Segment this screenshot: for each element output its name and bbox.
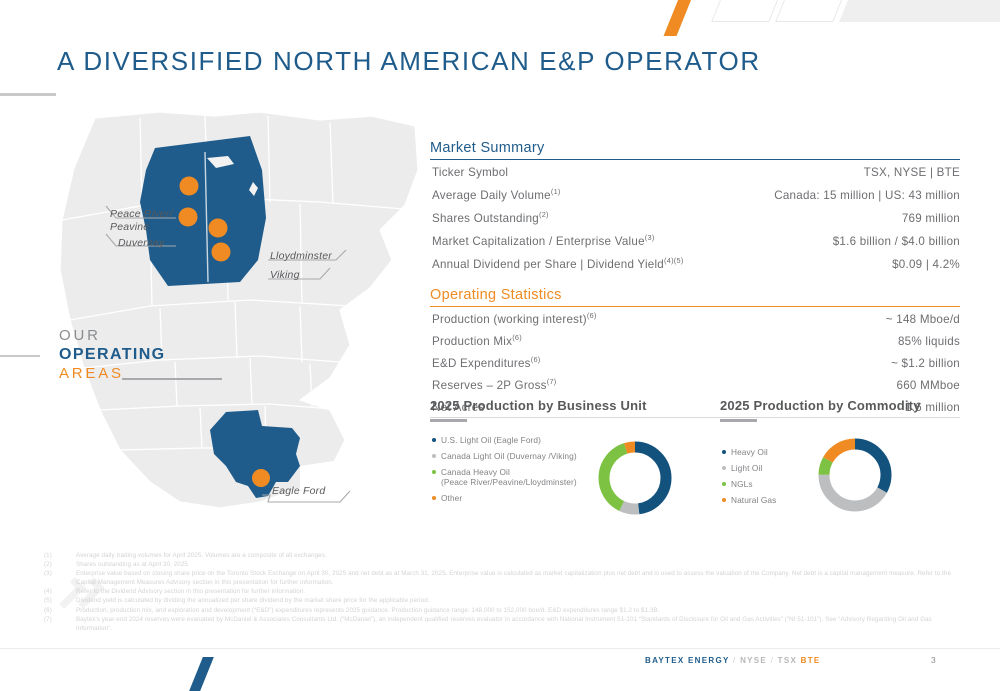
operating-areas-map: Peace River/ Peavine Duvernay Lloydminst… [0,110,420,540]
map-dot-peace-river [180,177,199,196]
map-label-eagle-ford: Eagle Ford [272,485,325,497]
top-decoration [660,0,1000,36]
chart-title: 2025 Production by Business Unit [430,398,720,413]
row-label: Ticker Symbol [432,164,508,179]
map-dot-eagle-ford [252,469,270,487]
footnote-number: (2) [44,560,76,569]
row-value: ~ $1.2 billion [891,357,960,370]
footnote-text: Dividend yield is calculated by dividing… [76,596,954,605]
footnote-number: (1) [44,551,76,560]
row-value: ~ 148 Mboe/d [886,313,960,326]
row-footnote-ref: (2) [539,210,549,219]
row-label: E&D Expenditures(6) [432,355,541,370]
legend-item: Natural Gas [722,495,776,505]
table-row: Production (working interest)(6) ~ 148 M… [430,307,960,329]
row-label: Market Capitalization / Enterprise Value… [432,233,655,248]
legend-item: U.S. Light Oil (Eagle Ford) [432,435,577,445]
legend-swatch [432,470,436,474]
footnote-number: (7) [44,615,76,633]
row-value: 660 MMboe [897,379,960,392]
operating-areas-line3: AREAS [59,364,166,383]
footnote-text: Production, production mix, and explorat… [76,606,954,615]
row-label: Production (working interest)(6) [432,311,597,326]
legend-label: Other [441,493,462,503]
legend-item: Canada Heavy Oil (Peace River/Peavine/Ll… [432,467,577,487]
summary-panel: Market Summary Ticker Symbol TSX, NYSE |… [430,140,960,418]
chart-production-by-business-unit: 2025 Production by Business Unit U.S. Li… [430,398,720,535]
chart-title: 2025 Production by Commodity [720,398,960,413]
row-value: $0.09 | 4.2% [892,258,960,271]
market-summary-heading: Market Summary [430,140,960,160]
operating-areas-line1: OUR [59,326,166,345]
legend-item: Heavy Oil [722,447,776,457]
blue-slash-icon [189,657,214,691]
table-row: Shares Outstanding(2) 769 million [430,206,960,229]
footnote-number: (6) [44,606,76,615]
footnote-item: (4) Refer to the Dividend Advisory secti… [44,587,954,596]
operating-statistics-heading: Operating Statistics [430,287,960,307]
legend-swatch [432,454,436,458]
footnote-item: (5) Dividend yield is calculated by divi… [44,596,954,605]
row-label: Shares Outstanding(2) [432,210,549,225]
footnote-text: Shares outstanding as at April 30, 2025. [76,560,954,569]
legend-swatch [432,496,436,500]
legend-item: NGLs [722,479,776,489]
row-footnote-ref: (6) [531,355,541,364]
row-footnote-ref: (6) [512,333,522,342]
page-number: 3 [931,655,936,665]
footer-branding: BAYTEX ENERGY / NYSE / TSX BTE [645,656,821,665]
row-value: $1.6 billion / $4.0 billion [833,235,960,248]
legend-item: Other [432,493,577,503]
footnote-text: Enterprise value based on closing share … [76,569,954,587]
row-label: Reserves – 2P Gross(7) [432,377,557,392]
legend-swatch [722,498,726,502]
deco-box-1 [711,0,783,22]
footnote-number: (5) [44,596,76,605]
footnote-item: (1) Average daily trading volumes for Ap… [44,551,954,560]
row-value: 85% liquids [898,335,960,348]
row-footnote-ref: (1) [551,187,561,196]
chart-title-underline [430,419,467,422]
legend-item: Light Oil [722,463,776,473]
donut-chart-business-unit [595,438,675,523]
row-value: Canada: 15 million | US: 43 million [774,189,960,202]
footer-separator-2: / [771,656,775,665]
legend-label: Natural Gas [731,495,776,505]
operating-areas-heading: OUR OPERATING AREAS [59,326,166,383]
map-label-peace-river-peavine: Peace River/ Peavine [110,208,173,234]
row-footnote-ref: (7) [547,377,557,386]
legend-swatch [722,450,726,454]
donut-chart-commodity [815,435,895,520]
row-value: 769 million [902,212,960,225]
footnote-text: Average daily trading volumes for April … [76,551,954,560]
title-rule [0,93,56,96]
footnote-item: (3) Enterprise value based on closing sh… [44,569,954,587]
operating-areas-rule-left [0,355,40,357]
legend-label: Canada Heavy Oil [441,467,577,477]
legend-label-line2: (Peace River/Peavine/Lloydminster) [441,477,577,487]
row-footnote-ref: (3) [645,233,655,242]
chart-legend: U.S. Light Oil (Eagle Ford) Canada Light… [432,435,577,509]
market-summary-rows: Ticker Symbol TSX, NYSE | BTE Average Da… [430,160,960,275]
footer-exchange-tsx: TSX [778,656,797,665]
operating-areas-line2: OPERATING [59,345,166,364]
footer-company: BAYTEX ENERGY [645,656,729,665]
chart-production-by-commodity: 2025 Production by Commodity Heavy Oil L… [720,398,960,535]
map-dot-lloydminster [209,219,228,238]
footnote-item: (7) Baytex's year-end 2024 reserves were… [44,615,954,633]
legend-label: Canada Light Oil (Duvernay /Viking) [441,451,577,461]
footer-ticker: BTE [801,656,821,665]
chart-title-underline [720,419,757,422]
table-row: Ticker Symbol TSX, NYSE | BTE [430,160,960,183]
footnote-number: (4) [44,587,76,596]
map-dot-viking [212,243,231,262]
legend-label: U.S. Light Oil (Eagle Ford) [441,435,541,445]
legend-label: NGLs [731,479,753,489]
footnote-number: (3) [44,569,76,587]
row-label: Annual Dividend per Share | Dividend Yie… [432,256,684,271]
table-row: Production Mix(6) 85% liquids [430,329,960,351]
footnote-item: (6) Production, production mix, and expl… [44,606,954,615]
page-title: A DIVERSIFIED NORTH AMERICAN E&P OPERATO… [57,46,761,77]
map-label-duvernay: Duvernay [118,237,165,249]
north-america-map-svg [0,110,420,540]
deco-box-2 [775,0,847,22]
footer-separator-1: / [733,656,737,665]
row-label: Average Daily Volume(1) [432,187,561,202]
row-value: TSX, NYSE | BTE [864,166,960,179]
slide-root: A DIVERSIFIED NORTH AMERICAN E&P OPERATO… [0,0,1000,685]
footer-exchange-nyse: NYSE [740,656,767,665]
legend-item: Canada Light Oil (Duvernay /Viking) [432,451,577,461]
footnote-item: (2) Shares outstanding as at April 30, 2… [44,560,954,569]
row-footnote-ref: (4)(5) [664,256,684,265]
table-row: E&D Expenditures(6) ~ $1.2 billion [430,351,960,373]
chart-legend: Heavy Oil Light Oil NGLs Natural Gas [722,447,776,511]
footnote-text: Baytex's year-end 2024 reserves were eva… [76,615,954,633]
table-row: Reserves – 2P Gross(7) 660 MMboe [430,373,960,395]
footer-divider [0,648,1000,649]
footnote-text: Refer to the Dividend Advisory section i… [76,587,954,596]
map-label-lloydminster: Lloydminster [270,250,332,262]
deco-gray-bar [839,0,1000,22]
map-label-viking: Viking [270,269,300,281]
table-row: Annual Dividend per Share | Dividend Yie… [430,252,960,275]
operating-areas-rule-right [122,378,222,380]
map-dot-duvernay [179,208,198,227]
legend-label: Light Oil [731,463,762,473]
orange-slash-icon [663,0,695,36]
legend-swatch [722,466,726,470]
row-label: Production Mix(6) [432,333,522,348]
legend-swatch [722,482,726,486]
row-footnote-ref: (6) [587,311,597,320]
table-row: Market Capitalization / Enterprise Value… [430,229,960,252]
legend-label: Heavy Oil [731,447,768,457]
footnotes-list: (1) Average daily trading volumes for Ap… [44,551,954,633]
table-row: Average Daily Volume(1) Canada: 15 milli… [430,183,960,206]
legend-swatch [432,438,436,442]
